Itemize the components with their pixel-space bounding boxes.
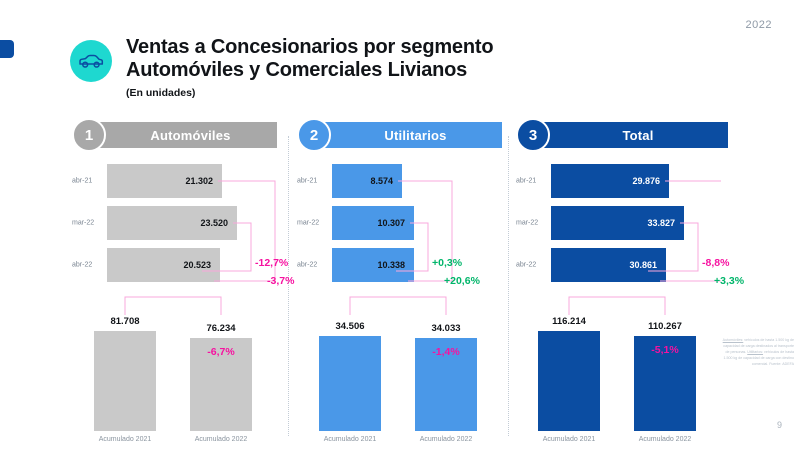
table-row: abr-21 29.876 (516, 164, 728, 198)
bar-value: 23.520 (200, 218, 228, 228)
delta-label-month: -8,8% (702, 257, 729, 269)
page-title-line1: Ventas a Concesionarios por segmento (126, 36, 493, 59)
bar-value: 116.214 (538, 316, 600, 327)
bar-mar-22: 10.307 (332, 206, 414, 240)
car-icon (70, 40, 112, 82)
bar-mar-22: 23.520 (107, 206, 237, 240)
row-label: mar-22 (72, 220, 102, 227)
accumulated-2022: 110.267 -5,1% Acumulado 2022 (634, 321, 696, 443)
panel-number-badge: 3 (516, 118, 550, 152)
panels-container: Automóviles 1 abr-21 21.302 mar-22 23.52… (0, 120, 800, 440)
vertical-bar (538, 331, 600, 431)
delta-label-accumulated: -1,4% (415, 346, 477, 358)
vertical-bar (94, 331, 156, 431)
panel-automoviles: Automóviles 1 abr-21 21.302 mar-22 23.52… (72, 120, 277, 440)
panel-utilitarios: Utilitarios 2 abr-21 8.574 mar-22 10.307… (297, 120, 502, 440)
panel-number-badge: 1 (72, 118, 106, 152)
bar-value: 81.708 (94, 316, 156, 327)
bar-value: 34.506 (319, 321, 381, 332)
slide-header: Ventas a Concesionarios por segmento Aut… (70, 36, 493, 99)
bar-value: 21.302 (185, 176, 213, 186)
page-title-line2: Automóviles y Comerciales Livianos (126, 59, 493, 82)
table-row: abr-22 20.523 (72, 248, 277, 282)
delta-label-year: +3,3% (714, 275, 744, 287)
bar-abr-21: 21.302 (107, 164, 222, 198)
bar-label: Acumulado 2021 (94, 436, 156, 443)
bar-value: 34.033 (415, 323, 477, 334)
panel-header: Total 3 (516, 120, 728, 150)
year-label: 2022 (746, 19, 772, 31)
bar-value: 20.523 (183, 260, 211, 270)
accumulated-bar-group: 116.214 Acumulado 2021 110.267 -5,1% Acu… (516, 293, 728, 443)
delta-label-month: +0,3% (432, 257, 462, 269)
panel-header-bar: Total (534, 122, 728, 148)
accumulated-2021: 34.506 Acumulado 2021 (319, 321, 381, 443)
delta-label-year: -3,7% (267, 275, 294, 287)
monthly-bar-group: abr-21 8.574 mar-22 10.307 abr-22 10.338… (297, 164, 502, 289)
accumulated-2021: 81.708 Acumulado 2021 (94, 316, 156, 443)
bar-abr-21: 8.574 (332, 164, 402, 198)
vertical-bar: -1,4% (415, 338, 477, 431)
panel-divider-2 (508, 136, 509, 436)
panel-total: Total 3 abr-21 29.876 mar-22 33.827 abr-… (516, 120, 728, 440)
row-label: abr-22 (516, 262, 546, 269)
bar-abr-22: 30.861 (551, 248, 666, 282)
vertical-bar: -6,7% (190, 338, 252, 431)
table-row: mar-22 23.520 (72, 206, 277, 240)
panel-title: Utilitarios (384, 128, 446, 143)
table-row: mar-22 10.307 (297, 206, 502, 240)
bar-label: Acumulado 2022 (415, 436, 477, 443)
accumulated-bar-group: 34.506 Acumulado 2021 34.033 -1,4% Acumu… (297, 293, 502, 443)
delta-label-accumulated: -5,1% (634, 344, 696, 356)
panel-header-bar: Utilitarios (315, 122, 502, 148)
bar-abr-22: 10.338 (332, 248, 414, 282)
table-row: abr-21 8.574 (297, 164, 502, 198)
decorative-left-tab (0, 40, 14, 58)
bar-value: 33.827 (647, 218, 675, 228)
bar-value: 10.338 (377, 260, 405, 270)
bar-label: Acumulado 2022 (190, 436, 252, 443)
bar-value: 10.307 (377, 218, 405, 228)
bar-mar-22: 33.827 (551, 206, 684, 240)
bar-value: 8.574 (370, 176, 393, 186)
bar-label: Acumulado 2021 (538, 436, 600, 443)
panel-title: Automóviles (150, 128, 230, 143)
bar-value: 110.267 (634, 321, 696, 332)
row-label: abr-22 (297, 262, 327, 269)
table-row: abr-21 21.302 (72, 164, 277, 198)
delta-label-year: +20,6% (444, 275, 480, 287)
accumulated-bar-group: 81.708 Acumulado 2021 76.234 -6,7% Acumu… (72, 293, 277, 443)
row-label: abr-22 (72, 262, 102, 269)
bar-value: 76.234 (190, 323, 252, 334)
bar-value: 30.861 (629, 260, 657, 270)
monthly-bar-group: abr-21 29.876 mar-22 33.827 abr-22 30.86… (516, 164, 728, 289)
panel-header-bar: Automóviles (90, 122, 277, 148)
bar-abr-21: 29.876 (551, 164, 669, 198)
page-subtitle: (En unidades) (126, 87, 493, 99)
bar-value: 29.876 (632, 176, 660, 186)
bar-abr-22: 20.523 (107, 248, 220, 282)
row-label: abr-21 (297, 178, 327, 185)
accumulated-2022: 34.033 -1,4% Acumulado 2022 (415, 323, 477, 443)
row-label: mar-22 (516, 220, 546, 227)
panel-header: Utilitarios 2 (297, 120, 502, 150)
panel-title: Total (622, 128, 653, 143)
panel-header: Automóviles 1 (72, 120, 277, 150)
table-row: mar-22 33.827 (516, 206, 728, 240)
row-label: abr-21 (72, 178, 102, 185)
bar-label: Acumulado 2022 (634, 436, 696, 443)
accumulated-2022: 76.234 -6,7% Acumulado 2022 (190, 323, 252, 443)
slide-root: 2022 Ventas a Concesionarios por segment… (0, 0, 800, 450)
table-row: abr-22 30.861 (516, 248, 728, 282)
accumulated-2021: 116.214 Acumulado 2021 (538, 316, 600, 443)
row-label: mar-22 (297, 220, 327, 227)
delta-label-month: -12,7% (255, 257, 288, 269)
row-label: abr-21 (516, 178, 546, 185)
footnote-text: Automóviles: vehículos de hasta 1.500 kg… (720, 338, 794, 368)
monthly-bar-group: abr-21 21.302 mar-22 23.520 abr-22 20.52… (72, 164, 277, 289)
page-number: 9 (777, 420, 782, 430)
vertical-bar (319, 336, 381, 431)
delta-label-accumulated: -6,7% (190, 346, 252, 358)
panel-number-badge: 2 (297, 118, 331, 152)
accumulated-connector (297, 293, 502, 319)
bar-label: Acumulado 2021 (319, 436, 381, 443)
vertical-bar: -5,1% (634, 336, 696, 431)
